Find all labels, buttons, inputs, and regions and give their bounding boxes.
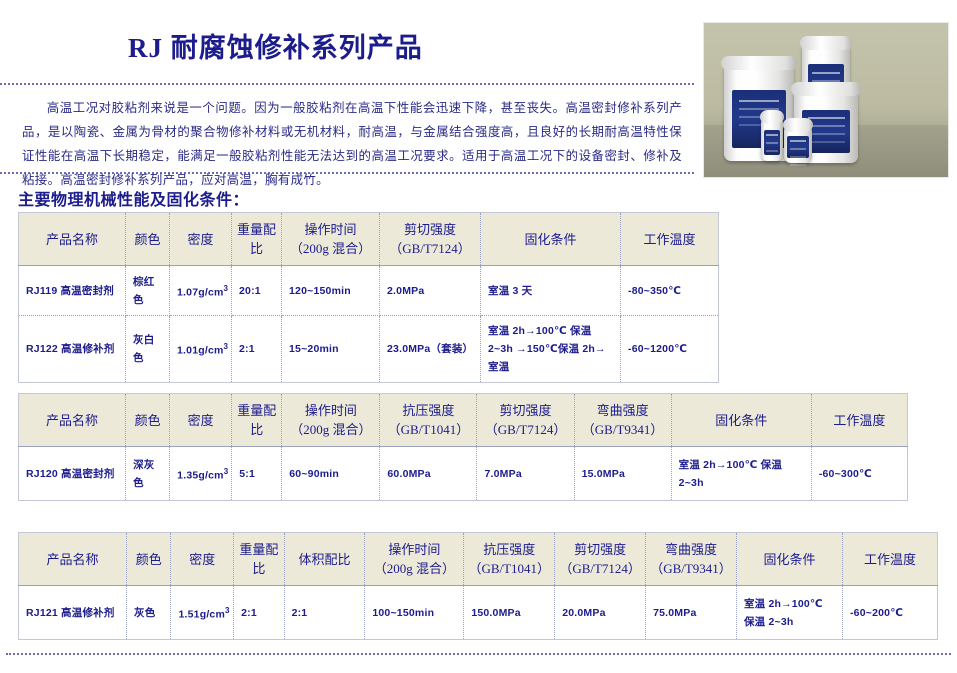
col-color: 颜色 <box>126 213 170 266</box>
product-photo <box>703 22 949 178</box>
col-shear-strength: 剪切强度 （GB/T7124） <box>555 533 646 586</box>
cell-cure-condition: 室温 2h→100℃ 保温 2~3h <box>736 586 842 640</box>
col-product-name: 产品名称 <box>19 394 126 447</box>
col-temp-range: 工作温度 <box>811 394 907 447</box>
cell-temp-range: -60~300℃ <box>811 447 907 501</box>
bucket-lid <box>783 118 813 132</box>
col-density: 密度 <box>170 394 232 447</box>
cell-weight-ratio: 5:1 <box>232 447 282 501</box>
cell-shear-strength: 2.0MPa <box>380 266 481 316</box>
cell-cure-condition: 室温 2h→100℃ 保温 2~3h <box>671 447 811 501</box>
bucket-lid <box>721 56 797 70</box>
cell-density: 1.35g/cm3 <box>170 447 232 501</box>
cell-working-time: 120~150min <box>282 266 380 316</box>
table-header-row: 产品名称 颜色 密度 重量配比 操作时间 （200g 混合） 剪切强度 （GB/… <box>19 213 719 266</box>
cell-shear-strength: 20.0MPa <box>555 586 646 640</box>
table-row: RJ122 高温修补剂 灰白色 1.01g/cm3 2:1 15~20min 2… <box>19 316 719 383</box>
bucket-lid <box>760 110 784 124</box>
intro-paragraph: 高温工况对胶粘剂来说是一个问题。因为一般胶粘剂在高温下性能会迅速下降，甚至丧失。… <box>22 96 682 192</box>
bucket-lid <box>800 36 852 50</box>
col-cure-condition: 固化条件 <box>736 533 842 586</box>
col-product-name: 产品名称 <box>19 213 126 266</box>
divider-bottom <box>6 653 951 655</box>
cell-weight-ratio: 20:1 <box>232 266 282 316</box>
col-temp-range: 工作温度 <box>842 533 937 586</box>
cell-cure-condition: 室温 2h→100℃ 保温 2~3h →150℃保温 2h→室温 <box>481 316 621 383</box>
table-row: RJ121 高温修补剂 灰色 1.51g/cm3 2:1 2:1 100~150… <box>19 586 938 640</box>
cell-product-name: RJ121 高温修补剂 <box>19 586 127 640</box>
cell-color: 灰白色 <box>126 316 170 383</box>
cell-volume-ratio: 2:1 <box>284 586 365 640</box>
table-header-row: 产品名称 颜色 密度 重量配比 体积配比 操作时间 （200g 混合） 抗压强度… <box>19 533 938 586</box>
cell-compressive-strength: 60.0MPa <box>380 447 477 501</box>
cell-cure-condition: 室温 3 天 <box>481 266 621 316</box>
col-weight-ratio: 重量配比 <box>232 213 282 266</box>
bucket-lid <box>791 82 860 96</box>
bucket-label <box>764 130 781 155</box>
col-flexural-strength: 弯曲强度 （GB/T9341） <box>646 533 737 586</box>
col-color: 颜色 <box>126 394 170 447</box>
cell-color: 棕红色 <box>126 266 170 316</box>
bucket-small-jar <box>761 119 783 161</box>
cell-product-name: RJ122 高温修补剂 <box>19 316 126 383</box>
col-working-time: 操作时间 （200g 混合） <box>282 394 380 447</box>
cell-density: 1.51g/cm3 <box>171 586 234 640</box>
col-shear-strength: 剪切强度 （GB/T7124） <box>380 213 481 266</box>
cell-product-name: RJ119 高温密封剂 <box>19 266 126 316</box>
cell-working-time: 100~150min <box>365 586 464 640</box>
col-shear-strength: 剪切强度 （GB/T7124） <box>477 394 574 447</box>
cell-density: 1.01g/cm3 <box>170 316 232 383</box>
col-compressive-strength: 抗压强度 （GB/T1041） <box>380 394 477 447</box>
cell-flexural-strength: 75.0MPa <box>646 586 737 640</box>
divider-top <box>0 83 694 85</box>
col-weight-ratio: 重量配比 <box>232 394 282 447</box>
col-density: 密度 <box>171 533 234 586</box>
cell-product-name: RJ120 高温密封剂 <box>19 447 126 501</box>
cell-working-time: 15~20min <box>282 316 380 383</box>
spec-table-3: 产品名称 颜色 密度 重量配比 体积配比 操作时间 （200g 混合） 抗压强度… <box>18 532 938 640</box>
col-temp-range: 工作温度 <box>621 213 719 266</box>
cell-compressive-strength: 150.0MPa <box>464 586 555 640</box>
col-cure-condition: 固化条件 <box>671 394 811 447</box>
col-density: 密度 <box>170 213 232 266</box>
section-heading: 主要物理机械性能及固化条件： <box>18 186 249 210</box>
col-working-time: 操作时间 （200g 混合） <box>282 213 380 266</box>
cell-working-time: 60~90min <box>282 447 380 501</box>
table-row: RJ119 高温密封剂 棕红色 1.07g/cm3 20:1 120~150mi… <box>19 266 719 316</box>
cell-temp-range: -60~200℃ <box>842 586 937 640</box>
bucket-small-tub <box>784 127 812 163</box>
cell-flexural-strength: 15.0MPa <box>574 447 671 501</box>
col-compressive-strength: 抗压强度 （GB/T1041） <box>464 533 555 586</box>
col-cure-condition: 固化条件 <box>481 213 621 266</box>
col-color: 颜色 <box>127 533 171 586</box>
page-title: RJ 耐腐蚀修补系列产品 <box>128 26 423 65</box>
col-working-time: 操作时间 （200g 混合） <box>365 533 464 586</box>
cell-weight-ratio: 2:1 <box>232 316 282 383</box>
col-flexural-strength: 弯曲强度 （GB/T9341） <box>574 394 671 447</box>
cell-shear-strength: 23.0MPa（套装） <box>380 316 481 383</box>
spec-table-2: 产品名称 颜色 密度 重量配比 操作时间 （200g 混合） 抗压强度 （GB/… <box>18 393 908 501</box>
cell-color: 深灰色 <box>126 447 170 501</box>
col-weight-ratio: 重量配比 <box>234 533 284 586</box>
cell-weight-ratio: 2:1 <box>234 586 284 640</box>
cell-shear-strength: 7.0MPa <box>477 447 574 501</box>
cell-temp-range: -80~350℃ <box>621 266 719 316</box>
col-product-name: 产品名称 <box>19 533 127 586</box>
cell-temp-range: -60~1200℃ <box>621 316 719 383</box>
col-volume-ratio: 体积配比 <box>284 533 365 586</box>
table-header-row: 产品名称 颜色 密度 重量配比 操作时间 （200g 混合） 抗压强度 （GB/… <box>19 394 908 447</box>
cell-color: 灰色 <box>127 586 171 640</box>
bucket-label <box>787 136 808 158</box>
cell-density: 1.07g/cm3 <box>170 266 232 316</box>
table-row: RJ120 高温密封剂 深灰色 1.35g/cm3 5:1 60~90min 6… <box>19 447 908 501</box>
spec-table-1: 产品名称 颜色 密度 重量配比 操作时间 （200g 混合） 剪切强度 （GB/… <box>18 212 719 383</box>
